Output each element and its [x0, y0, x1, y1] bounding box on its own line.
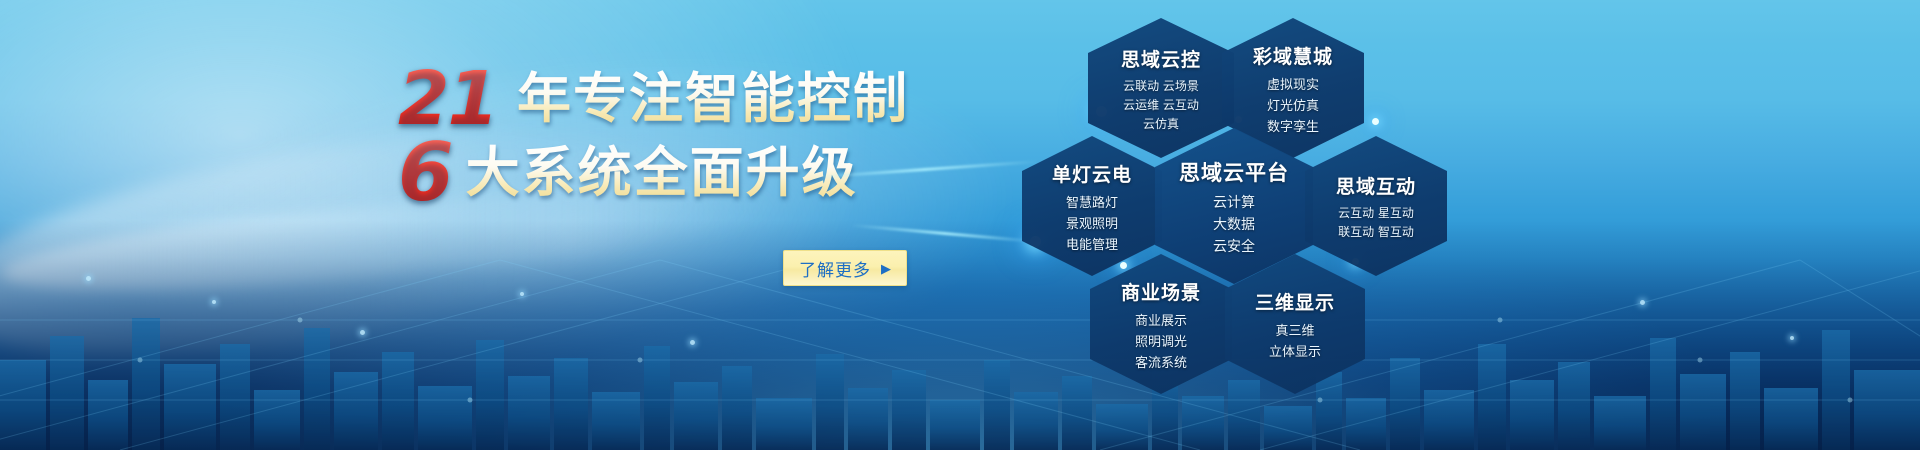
- hexagon-subitem: 景观照明: [1066, 213, 1118, 232]
- hexagon-title: 思域云平台: [1179, 157, 1289, 187]
- hexagon-subitems: 商业展示 照明调光 客流系统: [1135, 310, 1187, 371]
- hexagon-subitems: 虚拟现实 灯光仿真 数字孪生: [1267, 74, 1319, 135]
- light-dot: [1790, 336, 1794, 340]
- hexagon-subitem: 智慧路灯: [1066, 192, 1118, 211]
- hexagon-three-d-display[interactable]: 三维显示 真三维 立体显示: [1225, 254, 1365, 394]
- headline-line-2-text: 大系统全面升级: [466, 142, 858, 204]
- hexagon-subitem: 云计算: [1213, 192, 1255, 212]
- hexagon-title: 单灯云电: [1052, 160, 1132, 187]
- hexagon-subitems: 云互动 星互动 联互动 智互动: [1338, 204, 1414, 240]
- learn-more-button[interactable]: 了解更多 ▶: [783, 250, 907, 286]
- hexagon-subitem: 电能管理: [1066, 234, 1118, 253]
- hexagon-subitem: 大数据: [1213, 214, 1255, 234]
- hexagon-cluster: 思域云控 云联动 云场景 云运维 云互动 云仿真 彩域慧城 虚拟现实: [1000, 0, 1520, 450]
- hexagon-subitem: 云运维 云互动: [1123, 96, 1199, 113]
- glow-node: [1372, 118, 1379, 125]
- hexagon-subitem: 客流系统: [1135, 352, 1187, 371]
- years-number: 21: [398, 62, 503, 136]
- hexagon-title: 彩域慧城: [1253, 42, 1333, 69]
- headline-block: 21年专注智能控制 6大系统全面升级 了解更多 ▶: [0, 0, 900, 450]
- hexagon-subitem: 云仿真: [1143, 115, 1179, 132]
- hexagon-subitems: 云计算 大数据 云安全: [1213, 192, 1255, 256]
- hexagon-title: 三维显示: [1255, 288, 1335, 315]
- play-arrow-icon: ▶: [881, 262, 891, 275]
- hexagon-subitems: 云联动 云场景 云运维 云互动 云仿真: [1123, 77, 1199, 132]
- hexagon-title: 思域云控: [1121, 45, 1201, 72]
- hexagon-subitem: 云安全: [1213, 236, 1255, 256]
- hexagon-title: 思域互动: [1336, 172, 1416, 199]
- hexagon-subitems: 智慧路灯 景观照明 电能管理: [1066, 192, 1118, 253]
- promo-banner: 21年专注智能控制 6大系统全面升级 了解更多 ▶ 思域云控: [0, 0, 1920, 450]
- headline-line-2: 6大系统全面升级: [398, 133, 858, 213]
- hexagon-subitems: 真三维 立体显示: [1269, 320, 1321, 360]
- learn-more-label: 了解更多: [799, 256, 871, 281]
- hexagon-subitem: 云联动 云场景: [1123, 77, 1199, 94]
- hexagon-business-scene[interactable]: 商业场景 商业展示 照明调光 客流系统: [1090, 254, 1232, 394]
- hexagon-subitem: 数字孪生: [1267, 116, 1319, 135]
- systems-number: 6: [398, 133, 458, 213]
- hexagon-title: 商业场景: [1121, 278, 1201, 305]
- headline-line-1: 21年专注智能控制: [398, 62, 909, 136]
- headline-line-1-text: 年专注智能控制: [517, 68, 909, 130]
- hexagon-subitem: 云互动 星互动: [1338, 204, 1414, 221]
- light-dot: [1640, 300, 1645, 305]
- hexagon-subitem: 真三维: [1275, 320, 1314, 339]
- hexagon-subitem: 商业展示: [1135, 310, 1187, 329]
- hexagon-subitem: 照明调光: [1135, 331, 1187, 350]
- hexagon-subitem: 联互动 智互动: [1338, 223, 1414, 240]
- hexagon-subitem: 灯光仿真: [1267, 95, 1319, 114]
- hexagon-subitem: 虚拟现实: [1267, 74, 1319, 93]
- hexagon-subitem: 立体显示: [1269, 341, 1321, 360]
